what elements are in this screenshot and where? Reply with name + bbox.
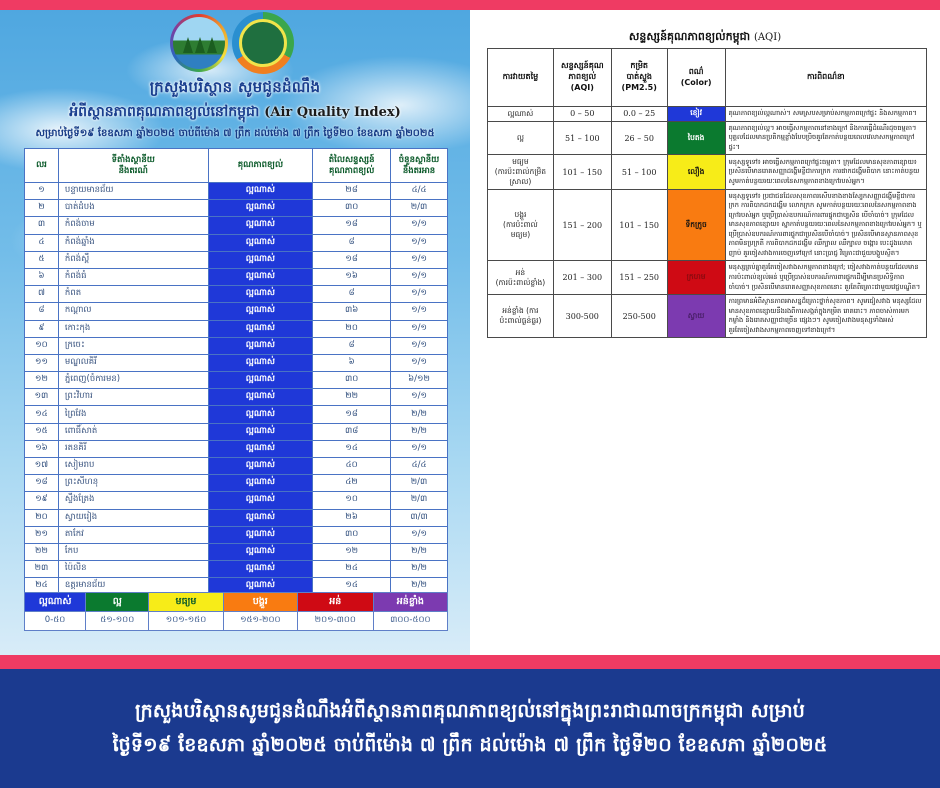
cell-quality-badge: ល្អណាស់ <box>208 509 313 526</box>
cell-quality-badge: ល្អណាស់ <box>208 423 313 440</box>
cell-quality-badge: ល្អណាស់ <box>208 372 313 389</box>
col-header-location: ទីតាំងស្ថានីយនឹងតរណ៍ <box>58 149 208 183</box>
cell-province-name: បន្ទាយមានជ័យ <box>58 183 208 200</box>
cell-quality-badge: ល្អណាស់ <box>208 303 313 320</box>
col-header-no: លរ <box>25 149 59 183</box>
cell-station-count: ២/២ <box>391 543 448 560</box>
cell-province-name: ព្រៃវែង <box>58 406 208 423</box>
table-row: ១០ក្រចេះល្អណាស់៨១/១ <box>25 337 448 354</box>
table-row: ៧កំពតល្អណាស់៨១/១ <box>25 286 448 303</box>
table-row: ២១តាកែវល្អណាស់៣០១/១ <box>25 526 448 543</box>
cell-aqi-value: ៨ <box>313 234 391 251</box>
scale-pm25-range: 26 – 50 <box>611 121 667 155</box>
scale-description: គុណភាពខ្យល់ល្អណាស់។ សមស្របសម្រាប់សកម្មភា… <box>725 107 926 122</box>
cell-station-count: ១/១ <box>391 337 448 354</box>
table-row: ២៣ប៉ៃលិនល្អណាស់២៤២/២ <box>25 561 448 578</box>
cell-quality-badge: ល្អណាស់ <box>208 492 313 509</box>
scale-pm25-range: 151 – 250 <box>611 261 667 295</box>
scale-category: បង្គួរ(ការប៉ះពាល់មធ្យម) <box>488 189 554 261</box>
cell-station-count: ៤/៤ <box>391 458 448 475</box>
aqi-scale-table: ការវាយតម្លៃ សន្ទស្សន៍គុណ ភាពខ្យល់ (AQI) … <box>487 48 927 338</box>
report-header: ក្រសួងបរិស្ថាន សូមជូនដំណឹង អំពីស្ថានភាពគ… <box>0 78 470 141</box>
scale-aqi-range: 151 – 200 <box>553 189 611 261</box>
legend-label-row: ល្អណាស់ល្អមធ្យមបង្គួរអន់អន់ខ្លាំង <box>25 593 448 612</box>
cell-aqi-value: ៣០ <box>313 372 391 389</box>
bottom-accent-strip <box>0 655 940 669</box>
cell-province-name: ពោធិ៍សាត់ <box>58 423 208 440</box>
cell-aqi-value: ១២ <box>313 543 391 560</box>
scale-color-swatch: ក្រហម <box>667 261 725 295</box>
cell-aqi-value: ១៨ <box>313 406 391 423</box>
cell-station-count: ១/១ <box>391 268 448 285</box>
cell-no: ៩ <box>25 320 59 337</box>
cell-quality-badge: ល្អណាស់ <box>208 217 313 234</box>
legend-range: ២០១-៣០០ <box>297 612 373 631</box>
cell-no: ២១ <box>25 526 59 543</box>
cell-aqi-value: ១០ <box>313 492 391 509</box>
scale-category: មធ្យម(ការប៉ះពាល់កម្រិតស្រាល) <box>488 155 554 189</box>
banner-line-1: ក្រសួងបរិស្ថានសូមជូនដំណឹងអំពីស្ថានភាពគុណ… <box>135 695 805 728</box>
cell-no: ៤ <box>25 234 59 251</box>
cell-province-name: កែប <box>58 543 208 560</box>
cell-quality-badge: ល្អណាស់ <box>208 440 313 457</box>
aqi-scale-title-km: សន្ទស្សន៍គុណភាពខ្យល់កម្ពុជា <box>629 30 750 43</box>
table-row: ៦កំពង់ធំល្អណាស់១៦១/១ <box>25 268 448 285</box>
legend-range: 0-៥០ <box>25 612 86 631</box>
cell-quality-badge: ល្អណាស់ <box>208 268 313 285</box>
aqi-scale-row: ល្អ51 – 10026 – 50បៃតងគុណភាពខ្យល់ល្អ។ អា… <box>488 121 927 155</box>
province-aqi-table: លរ ទីតាំងស្ថានីយនឹងតរណ៍ គុណភាពខ្យល់ តំលៃ… <box>24 148 448 613</box>
table-row: ១៩ស្ទឹងត្រែងល្អណាស់១០២/៣ <box>25 492 448 509</box>
legend-label: ល្អ <box>86 593 149 612</box>
scale-color-swatch: ខៀវ <box>667 107 725 122</box>
cell-quality-badge: ល្អណាស់ <box>208 183 313 200</box>
cell-aqi-value: ៨ <box>313 286 391 303</box>
legend-range: ១០១-១៥០ <box>149 612 223 631</box>
ministry-of-environment-emblem-icon <box>170 14 228 72</box>
cell-no: ៣ <box>25 217 59 234</box>
scale-description: មនុស្សគ្រប់គ្នាគួរតែចៀសវាងសកម្មភាពខាងក្រ… <box>725 261 926 295</box>
cell-no: ៥ <box>25 251 59 268</box>
aqi-scale-row: អន់ខ្លាំង (ការប៉ះពាល់ធ្ងន់ធ្ងរ)300-50025… <box>488 295 927 338</box>
table-row: ១៧សៀមរាបល្អណាស់៤០៤/៤ <box>25 458 448 475</box>
report-title-km: អំពីស្ថានភាពគុណភាពខ្យល់នៅកម្ពុជា <box>69 104 259 120</box>
scale-color-swatch: បៃតង <box>667 121 725 155</box>
banner-line-2: ថ្ងៃទី១៩ ខែឧសភា ឆ្នាំ២០២៥ ចាប់ពីម៉ោង ៧ ព… <box>113 729 828 762</box>
scale-description: មនុស្សទូទៅ៖ ប្រជាជនដែលសុខភាពរសើបខាងខាងស្… <box>725 189 926 261</box>
scale-aqi-range: 201 – 300 <box>553 261 611 295</box>
cell-no: ១៣ <box>25 389 59 406</box>
cell-aqi-value: ២២ <box>313 389 391 406</box>
legend-label: មធ្យម <box>149 593 223 612</box>
cell-province-name: កំពត <box>58 286 208 303</box>
cell-station-count: ១/១ <box>391 217 448 234</box>
col-header-station-count: ចំនួនស្ថានីយនឹងតរអាន <box>391 149 448 183</box>
table-row: ៤កំពង់ឆ្នាំងល្អណាស់៨១/១ <box>25 234 448 251</box>
cell-province-name: សៀមរាប <box>58 458 208 475</box>
cell-aqi-value: ៣០ <box>313 200 391 217</box>
cell-quality-badge: ល្អណាស់ <box>208 200 313 217</box>
scale-description: ការព្រមានអំពីស្ថានភាពអាសន្នដ៏គ្រោះថ្នាក់… <box>725 295 926 338</box>
cell-no: ១៦ <box>25 440 59 457</box>
cell-quality-badge: ល្អណាស់ <box>208 251 313 268</box>
legend-range-row: 0-៥០៥១-១០០១០១-១៥០១៥១-២០០២០១-៣០០៣០០-៥០០ <box>25 612 448 631</box>
cell-aqi-value: ៦ <box>313 354 391 371</box>
table-row: ៨កណ្តាលល្អណាស់៣៦១/១ <box>25 303 448 320</box>
aqi-scale-title-en: (AQI) <box>754 32 781 43</box>
cell-province-name: កំពង់ធំ <box>58 268 208 285</box>
cell-aqi-value: ៣០ <box>313 526 391 543</box>
cell-province-name: មណ្ឌលគិរី <box>58 354 208 371</box>
table-row: ៥កំពង់ស្ពឺល្អណាស់១៨១/១ <box>25 251 448 268</box>
table-row: ៩កោះកុងល្អណាស់២០១/១ <box>25 320 448 337</box>
cell-station-count: ៦/១២ <box>391 372 448 389</box>
cell-quality-badge: ល្អណាស់ <box>208 475 313 492</box>
cell-province-name: ស្វាយរៀង <box>58 509 208 526</box>
aqi-report-page: ក្រសួងបរិស្ថាន សូមជូនដំណឹង អំពីស្ថានភាពគ… <box>0 0 940 788</box>
table-row: ១៤ព្រៃវែងល្អណាស់១៨២/២ <box>25 406 448 423</box>
cell-province-name: កោះកុង <box>58 320 208 337</box>
cell-quality-badge: ល្អណាស់ <box>208 543 313 560</box>
cell-province-name: តាកែវ <box>58 526 208 543</box>
scale-pm25-range: 101 – 150 <box>611 189 667 261</box>
legend-label: បង្គួរ <box>223 593 297 612</box>
cell-no: ១០ <box>25 337 59 354</box>
aqi-legend: ល្អណាស់ល្អមធ្យមបង្គួរអន់អន់ខ្លាំង 0-៥០៥១… <box>24 592 448 631</box>
air-quality-program-logo-icon <box>232 12 294 74</box>
scale-color-swatch: លឿង <box>667 155 725 189</box>
cell-province-name: កំពង់ឆ្នាំង <box>58 234 208 251</box>
aqi-scale-header-row: ការវាយតម្លៃ សន្ទស្សន៍គុណ ភាពខ្យល់ (AQI) … <box>488 49 927 107</box>
cell-aqi-value: ៣៨ <box>313 423 391 440</box>
cell-station-count: ១/១ <box>391 354 448 371</box>
scale-pm25-range: 51 – 100 <box>611 155 667 189</box>
cell-station-count: ២/៣ <box>391 200 448 217</box>
scale-pm25-range: 0.0 – 25 <box>611 107 667 122</box>
cell-station-count: ១/១ <box>391 286 448 303</box>
scale-aqi-range: 101 – 150 <box>553 155 611 189</box>
cell-station-count: ២/៣ <box>391 475 448 492</box>
cell-province-name: ភ្នំពេញ(ចំការមន) <box>58 372 208 389</box>
cell-station-count: ២/២ <box>391 423 448 440</box>
report-title-en: (Air Quality Index) <box>264 105 401 120</box>
cell-no: ៦ <box>25 268 59 285</box>
aqi-scale-row: អន់(ការប៉ះពាល់ខ្លាំង)201 – 300151 – 250ក… <box>488 261 927 295</box>
cell-aqi-value: ៨ <box>313 337 391 354</box>
cell-province-name: កំពង់ស្ពឺ <box>58 251 208 268</box>
cell-no: ១ <box>25 183 59 200</box>
scale-col-category: ការវាយតម្លៃ <box>488 49 554 107</box>
cell-aqi-value: ២៨ <box>313 183 391 200</box>
legend-range: ៥១-១០០ <box>86 612 149 631</box>
cell-quality-badge: ល្អណាស់ <box>208 286 313 303</box>
cell-aqi-value: ២៤ <box>313 561 391 578</box>
scale-category: អន់ខ្លាំង (ការប៉ះពាល់ធ្ងន់ធ្ងរ) <box>488 295 554 338</box>
cell-no: ២៣ <box>25 561 59 578</box>
cell-quality-badge: ល្អណាស់ <box>208 458 313 475</box>
cell-aqi-value: ៤២ <box>313 475 391 492</box>
scale-color-swatch: ទឹកក្រូច <box>667 189 725 261</box>
scale-category: អន់(ការប៉ះពាល់ខ្លាំង) <box>488 261 554 295</box>
scale-category: ល្អ <box>488 121 554 155</box>
scale-description: គុណភាពខ្យល់ល្អ។ អាចធ្វើសកម្មភាពនៅខាងក្រៅ… <box>725 121 926 155</box>
cell-station-count: ៤/៤ <box>391 183 448 200</box>
cell-aqi-value: ២០ <box>313 320 391 337</box>
aqi-scale-title: សន្ទស្សន៍គុណភាពខ្យល់កម្ពុជា (AQI) <box>470 30 940 46</box>
cell-no: ៧ <box>25 286 59 303</box>
table-row: ១១មណ្ឌលគិរីល្អណាស់៦១/១ <box>25 354 448 371</box>
cell-aqi-value: ២៦ <box>313 509 391 526</box>
table-row: ១៣ព្រះវិហារល្អណាស់២២១/១ <box>25 389 448 406</box>
scale-col-color: ពណ៌ (Color) <box>667 49 725 107</box>
cell-station-count: ២/២ <box>391 406 448 423</box>
cell-quality-badge: ល្អណាស់ <box>208 320 313 337</box>
cell-quality-badge: ល្អណាស់ <box>208 337 313 354</box>
aqi-scale-row: ល្អណាស់0 – 500.0 – 25ខៀវគុណភាពខ្យល់ល្អណា… <box>488 107 927 122</box>
cell-province-name: រតនគិរី <box>58 440 208 457</box>
cell-aqi-value: ១៦ <box>313 268 391 285</box>
cell-station-count: ២/២ <box>391 561 448 578</box>
table-row: ១៨ព្រះសីហនុល្អណាស់៤២២/៣ <box>25 475 448 492</box>
cell-station-count: ១/១ <box>391 234 448 251</box>
table-row: ២បាត់ដំបងល្អណាស់៣០២/៣ <box>25 200 448 217</box>
table-row: ១៥ពោធិ៍សាត់ល្អណាស់៣៨២/២ <box>25 423 448 440</box>
cell-no: ១៤ <box>25 406 59 423</box>
scale-category: ល្អណាស់ <box>488 107 554 122</box>
table-row: ២២កែបល្អណាស់១២២/២ <box>25 543 448 560</box>
cell-no: ១៧ <box>25 458 59 475</box>
table-row: ២០ស្វាយរៀងល្អណាស់២៦៣/៣ <box>25 509 448 526</box>
scale-aqi-range: 300-500 <box>553 295 611 338</box>
cell-quality-badge: ល្អណាស់ <box>208 234 313 251</box>
cell-quality-badge: ល្អណាស់ <box>208 526 313 543</box>
cell-no: ៨ <box>25 303 59 320</box>
table-row: ១២ភ្នំពេញ(ចំការមន)ល្អណាស់៣០៦/១២ <box>25 372 448 389</box>
legend-label: អន់ខ្លាំង <box>373 593 447 612</box>
legend-range: ១៥១-២០០ <box>223 612 297 631</box>
cell-quality-badge: ល្អណាស់ <box>208 389 313 406</box>
scale-aqi-range: 51 – 100 <box>553 121 611 155</box>
aqi-scale-row: មធ្យម(ការប៉ះពាល់កម្រិតស្រាល)101 – 15051 … <box>488 155 927 189</box>
col-header-quality: គុណភាពខ្យល់ <box>208 149 313 183</box>
cell-no: ១៩ <box>25 492 59 509</box>
cell-no: ១១ <box>25 354 59 371</box>
table-header-row: លរ ទីតាំងស្ថានីយនឹងតរណ៍ គុណភាពខ្យល់ តំលៃ… <box>25 149 448 183</box>
cell-province-name: បាត់ដំបង <box>58 200 208 217</box>
cell-province-name: ប៉ៃលិន <box>58 561 208 578</box>
cell-quality-badge: ល្អណាស់ <box>208 561 313 578</box>
announcement-banner: ក្រសួងបរិស្ថានសូមជូនដំណឹងអំពីស្ថានភាពគុណ… <box>0 669 940 788</box>
cell-station-count: ២/៣ <box>391 492 448 509</box>
cell-quality-badge: ល្អណាស់ <box>208 406 313 423</box>
cell-station-count: ១/១ <box>391 526 448 543</box>
top-accent-strip <box>0 0 940 10</box>
scale-color-swatch: ស្វាយ <box>667 295 725 338</box>
table-row: ១៦រតនគិរីល្អណាស់១៤១/១ <box>25 440 448 457</box>
cell-station-count: ១/១ <box>391 251 448 268</box>
report-subtitle: សម្រាប់ថ្ងៃទី១៩ ខែឧសភា ឆ្នាំ២០២៥ ចាប់ពីម… <box>0 126 470 141</box>
report-title: អំពីស្ថានភាពគុណភាពខ្យល់នៅកម្ពុជា (Air Qu… <box>0 102 470 123</box>
aqi-scale-row: បង្គួរ(ការប៉ះពាល់មធ្យម)151 – 200101 – 15… <box>488 189 927 261</box>
cell-quality-badge: ល្អណាស់ <box>208 354 313 371</box>
scale-aqi-range: 0 – 50 <box>553 107 611 122</box>
logo-group <box>170 12 310 74</box>
cell-station-count: ៣/៣ <box>391 509 448 526</box>
cell-aqi-value: ១៨ <box>313 251 391 268</box>
cell-province-name: ក្រចេះ <box>58 337 208 354</box>
cell-station-count: ១/១ <box>391 303 448 320</box>
cell-aqi-value: ១៨ <box>313 217 391 234</box>
cell-station-count: ១/១ <box>391 440 448 457</box>
scale-description: មនុស្សទូទៅ៖ អាចធ្វើសកម្មភាពក្រៅផ្ទះធម្មត… <box>725 155 926 189</box>
cell-province-name: កំពង់ចាម <box>58 217 208 234</box>
scale-col-pm25: កម្រិត បាត់ស្ទួង (PM2.5) <box>611 49 667 107</box>
cell-no: ១៥ <box>25 423 59 440</box>
cell-no: ២០ <box>25 509 59 526</box>
cell-no: ១៨ <box>25 475 59 492</box>
table-row: ៣កំពង់ចាមល្អណាស់១៨១/១ <box>25 217 448 234</box>
table-row: ១បន្ទាយមានជ័យល្អណាស់២៨៤/៤ <box>25 183 448 200</box>
cell-province-name: ព្រះសីហនុ <box>58 475 208 492</box>
scale-pm25-range: 250-500 <box>611 295 667 338</box>
cell-no: ១២ <box>25 372 59 389</box>
col-header-aqi-value: តំលៃសន្ទស្សន៍គុណភាពខ្យល់ <box>313 149 391 183</box>
cell-no: ២ <box>25 200 59 217</box>
cell-province-name: កណ្តាល <box>58 303 208 320</box>
cell-province-name: ស្ទឹងត្រែង <box>58 492 208 509</box>
scale-col-description: ការពិពណ៌នា <box>725 49 926 107</box>
legend-range: ៣០០-៥០០ <box>373 612 447 631</box>
cell-station-count: ១/១ <box>391 389 448 406</box>
scale-col-aqi: សន្ទស្សន៍គុណ ភាពខ្យល់ (AQI) <box>553 49 611 107</box>
legend-label: អន់ <box>297 593 373 612</box>
cell-aqi-value: ៣៦ <box>313 303 391 320</box>
cell-aqi-value: ១៤ <box>313 440 391 457</box>
cell-no: ២២ <box>25 543 59 560</box>
cell-province-name: ព្រះវិហារ <box>58 389 208 406</box>
cell-aqi-value: ៤០ <box>313 458 391 475</box>
cell-station-count: ១/១ <box>391 320 448 337</box>
legend-label: ល្អណាស់ <box>25 593 86 612</box>
organization-line: ក្រសួងបរិស្ថាន សូមជូនដំណឹង <box>0 78 470 100</box>
